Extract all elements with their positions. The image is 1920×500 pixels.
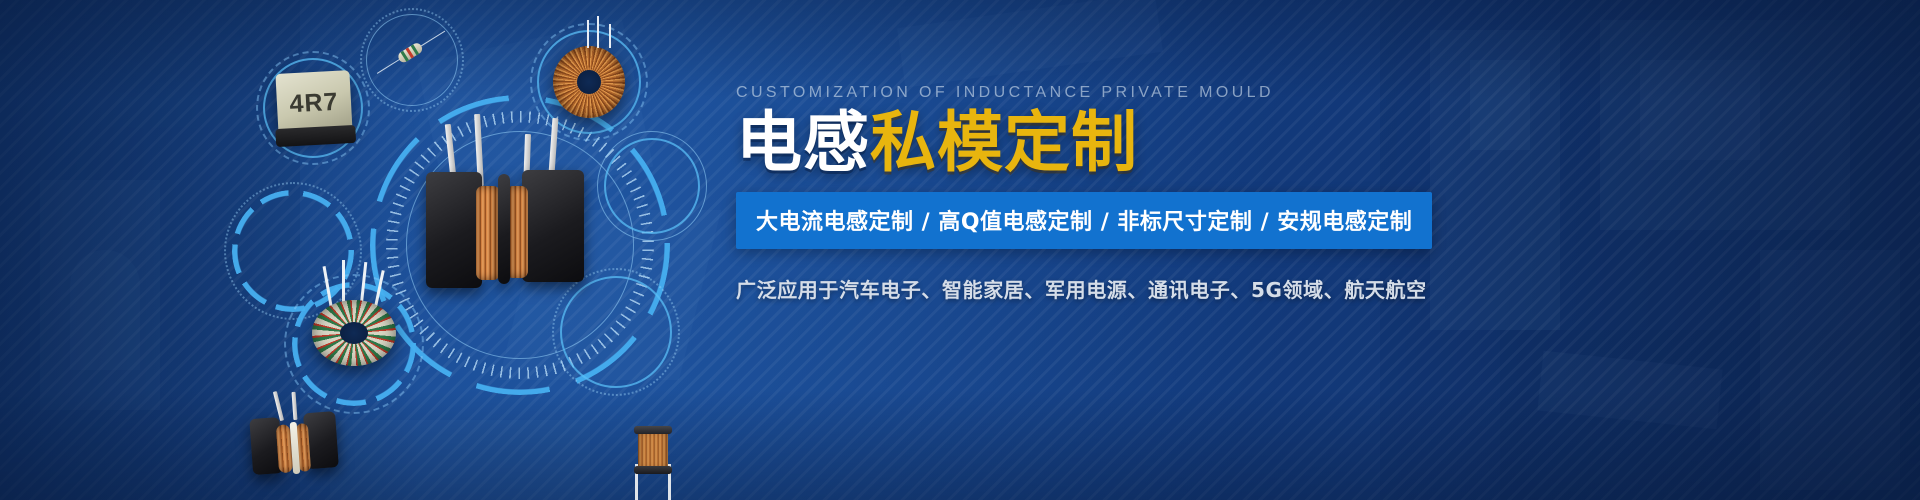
- copper-toroid-hole: [577, 70, 601, 94]
- product-common-mode-choke-small: [244, 395, 346, 489]
- inductance-custom-mould-banner: 4R7: [0, 0, 1920, 500]
- banner-description: 广泛应用于汽车电子、智能家居、军用电源、通讯电子、5G领域、航天航空: [736, 274, 1866, 303]
- smd-inductor-code: 4R7: [289, 87, 339, 119]
- copper-toroid-lead-c: [609, 24, 611, 48]
- product-copper-toroid-choke: [553, 46, 625, 118]
- product-common-mode-choke-large: [420, 130, 600, 300]
- headline-white-part: 电感: [736, 104, 870, 181]
- headline-gold-part: 私模定制: [870, 104, 1138, 181]
- choke-large-coil-a: [476, 186, 500, 280]
- banner-eyebrow: CUSTOMIZATION OF INDUCTANCE PRIVATE MOUL…: [736, 84, 1866, 102]
- green-toroid-lead-2: [342, 260, 345, 306]
- drum-flange-bottom: [634, 466, 672, 474]
- choke-large-body-right: [522, 170, 584, 282]
- product-green-toroid-choke: [312, 300, 396, 366]
- drum-flange-top: [634, 426, 672, 434]
- service-tag-bar: 大电流电感定制 / 高Q值电感定制 / 非标尺寸定制 / 安规电感定制: [736, 192, 1432, 249]
- copper-toroid-body: [553, 46, 625, 118]
- green-toroid-hole: [340, 322, 368, 344]
- product-smd-power-inductor: 4R7: [277, 72, 351, 134]
- tech-ring-drum-outer: [597, 131, 707, 241]
- copper-toroid-lead-a: [587, 20, 589, 48]
- service-tag-list: 大电流电感定制 / 高Q值电感定制 / 非标尺寸定制 / 安规电感定制: [756, 204, 1412, 236]
- product-drum-core-inductor: [630, 428, 680, 500]
- banner-text-block: CUSTOMIZATION OF INDUCTANCE PRIVATE MOUL…: [736, 84, 1866, 303]
- smd-inductor-body: 4R7: [275, 70, 352, 136]
- choke-large-center-bar: [498, 174, 510, 284]
- drum-core-winding: [638, 430, 668, 470]
- banner-headline: 电感私模定制: [736, 109, 1866, 176]
- copper-toroid-lead-b: [597, 16, 599, 48]
- choke-large-body-left: [426, 172, 482, 288]
- green-toroid-body: [312, 300, 396, 366]
